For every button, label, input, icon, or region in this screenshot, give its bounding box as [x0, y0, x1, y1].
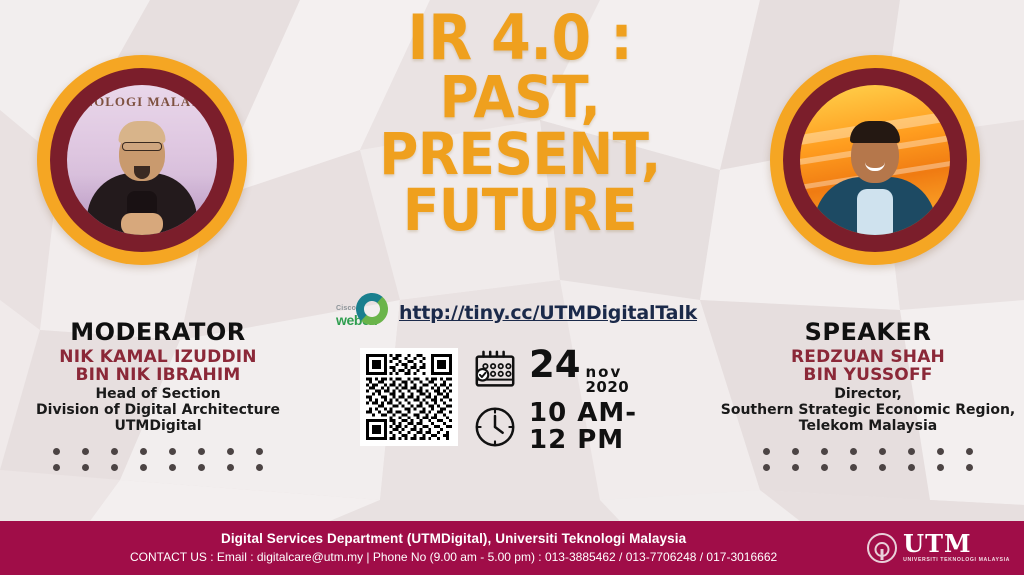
portrait-inner-ring-left: NOLOGI MALAY: [50, 68, 234, 252]
photo-backdrop-text: NOLOGI MALAY: [67, 94, 217, 110]
speaker-block: SPEAKER REDZUAN SHAH BIN YUSSOFF Directo…: [718, 318, 1018, 471]
event-date-monthyear: nov 2020: [586, 365, 630, 396]
speaker-name-line-2: BIN YUSSOFF: [718, 366, 1018, 384]
speaker-shirt: [857, 189, 893, 235]
moderator-portrait: NOLOGI MALAY: [37, 55, 247, 265]
title-line-1: IR 4.0 :: [318, 8, 723, 69]
footer-bar: Digital Services Department (UTMDigital)…: [0, 521, 1024, 575]
moderator-meta: Head of Section Division of Digital Arch…: [8, 387, 308, 435]
dot-row: [763, 464, 973, 471]
speaker-meta: Director, Southern Strategic Economic Re…: [718, 387, 1018, 435]
cisco-wordmark: Cisco: [336, 305, 356, 312]
calendar-icon: [472, 348, 518, 394]
dot-row: [53, 448, 263, 455]
speaker-role-label: SPEAKER: [718, 318, 1018, 346]
footer-contact-text: Digital Services Department (UTMDigital)…: [0, 529, 867, 567]
moderator-meta-line-2: Division of Digital Architecture: [8, 403, 308, 419]
clock-icon: [472, 404, 518, 450]
title-line-2: PAST, PRESENT,: [318, 69, 723, 183]
speaker-meta-line-2: Southern Strategic Economic Region,: [718, 403, 1018, 419]
date-line: 24 nov 2020: [472, 346, 637, 396]
portrait-inner-ring-right: [783, 68, 967, 252]
utm-logo-sub: UNIVERSITI TEKNOLOGI MALAYSIA: [903, 558, 1010, 563]
event-date-day: 24: [529, 346, 581, 383]
event-time: 10 AM- 12 PM: [529, 400, 637, 454]
dot-row: [763, 448, 973, 455]
speaker-portrait: [770, 55, 980, 265]
moderator-block: MODERATOR NIK KAMAL IZUDDIN BIN NIK IBRA…: [8, 318, 308, 471]
event-date: 24 nov 2020: [529, 346, 629, 396]
moderator-dot-decoration: [8, 448, 308, 471]
utm-logo-main: UTM: [903, 532, 1010, 556]
glasses-icon: [122, 142, 162, 151]
speaker-name-line-1: REDZUAN SHAH: [718, 348, 1018, 366]
speaker-photo: [800, 85, 950, 235]
speaker-dot-decoration: [718, 448, 1018, 471]
title-line-3: FUTURE: [318, 182, 723, 239]
qr-and-datetime-row: 24 nov 2020 10 AM-: [336, 344, 688, 454]
event-date-year: 2020: [586, 380, 630, 395]
moderator-name-line-1: NIK KAMAL IZUDDIN: [8, 348, 308, 366]
moderator-name: NIK KAMAL IZUDDIN BIN NIK IBRAHIM: [8, 348, 308, 384]
speaker-name: REDZUAN SHAH BIN YUSSOFF: [718, 348, 1018, 384]
dot-row: [53, 464, 263, 471]
time-line: 10 AM- 12 PM: [472, 400, 637, 454]
utm-wordmark: UTM UNIVERSITI TEKNOLOGI MALAYSIA: [903, 532, 1010, 563]
utm-seal-icon: [867, 533, 897, 563]
utm-logo: UTM UNIVERSITI TEKNOLOGI MALAYSIA: [867, 532, 1010, 563]
moderator-meta-line-1: Head of Section: [8, 387, 308, 403]
speaker-meta-line-3: Telekom Malaysia: [718, 419, 1018, 435]
moderator-hair: [119, 121, 166, 143]
poster-canvas: IR 4.0 : PAST, PRESENT, FUTURE NOLOGI MA…: [0, 0, 1024, 575]
moderator-role-label: MODERATOR: [8, 318, 308, 346]
speaker-hair: [850, 121, 900, 143]
footer-line-2: CONTACT US : Email : digitalcare@utm.my …: [40, 549, 867, 566]
speaker-meta-line-1: Director,: [718, 387, 1018, 403]
qr-code-graphic: [366, 354, 452, 440]
datetime-block: 24 nov 2020 10 AM-: [472, 346, 637, 454]
event-time-line-1: 10 AM-: [529, 400, 637, 427]
poster-title: IR 4.0 : PAST, PRESENT, FUTURE: [300, 8, 740, 239]
moderator-meta-line-3: UTMDigital: [8, 419, 308, 435]
qr-code[interactable]: [360, 348, 458, 446]
moderator-name-line-2: BIN NIK IBRAHIM: [8, 366, 308, 384]
event-time-line-2: 12 PM: [529, 427, 637, 454]
footer-line-1: Digital Services Department (UTMDigital)…: [40, 529, 867, 549]
moderator-photo: NOLOGI MALAY: [67, 85, 217, 235]
moderator-hands: [121, 213, 163, 235]
webex-ring-icon: [355, 292, 389, 326]
webex-link-row: Cisco webex http://tiny.cc/UTMDigitalTal…: [336, 292, 688, 334]
event-link[interactable]: http://tiny.cc/UTMDigitalTalk: [399, 302, 697, 324]
event-details-block: Cisco webex http://tiny.cc/UTMDigitalTal…: [336, 292, 688, 454]
cisco-webex-logo: Cisco webex: [336, 292, 392, 334]
